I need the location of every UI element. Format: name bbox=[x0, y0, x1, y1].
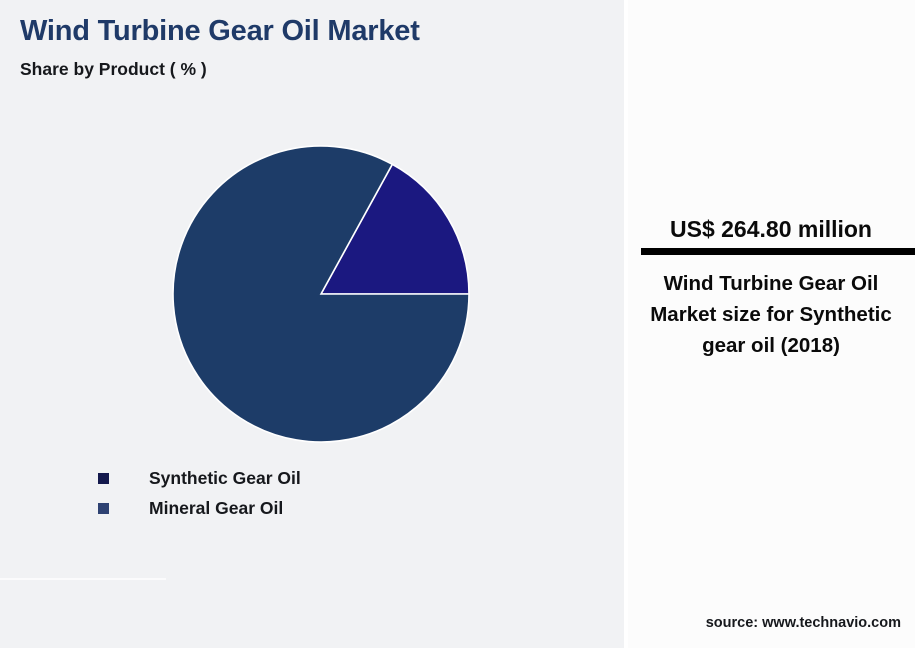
chart-legend: Synthetic Gear Oil Mineral Gear Oil bbox=[98, 463, 301, 523]
legend-swatch-mineral-gear-oil bbox=[98, 503, 109, 514]
baseline-divider bbox=[0, 578, 166, 580]
pie-chart-svg bbox=[0, 0, 627, 648]
infographic-root: Wind Turbine Gear Oil Market Share by Pr… bbox=[0, 0, 915, 648]
legend-label-synthetic-gear-oil: Synthetic Gear Oil bbox=[149, 468, 301, 489]
stat-panel: US$ 264.80 million Wind Turbine Gear Oil… bbox=[627, 0, 915, 648]
legend-item-synthetic-gear-oil[interactable]: Synthetic Gear Oil bbox=[98, 463, 301, 493]
legend-item-mineral-gear-oil[interactable]: Mineral Gear Oil bbox=[98, 493, 301, 523]
stat-value: US$ 264.80 million bbox=[627, 216, 915, 243]
stat-underline bbox=[641, 248, 915, 255]
legend-swatch-synthetic-gear-oil bbox=[98, 473, 109, 484]
legend-label-mineral-gear-oil: Mineral Gear Oil bbox=[149, 498, 283, 519]
stat-caption: Wind Turbine Gear Oil Market size for Sy… bbox=[641, 268, 901, 361]
chart-panel: Wind Turbine Gear Oil Market Share by Pr… bbox=[0, 0, 627, 648]
source-note: source: www.technavio.com bbox=[627, 615, 901, 631]
pie-chart bbox=[0, 0, 627, 648]
panel-divider bbox=[624, 0, 628, 648]
